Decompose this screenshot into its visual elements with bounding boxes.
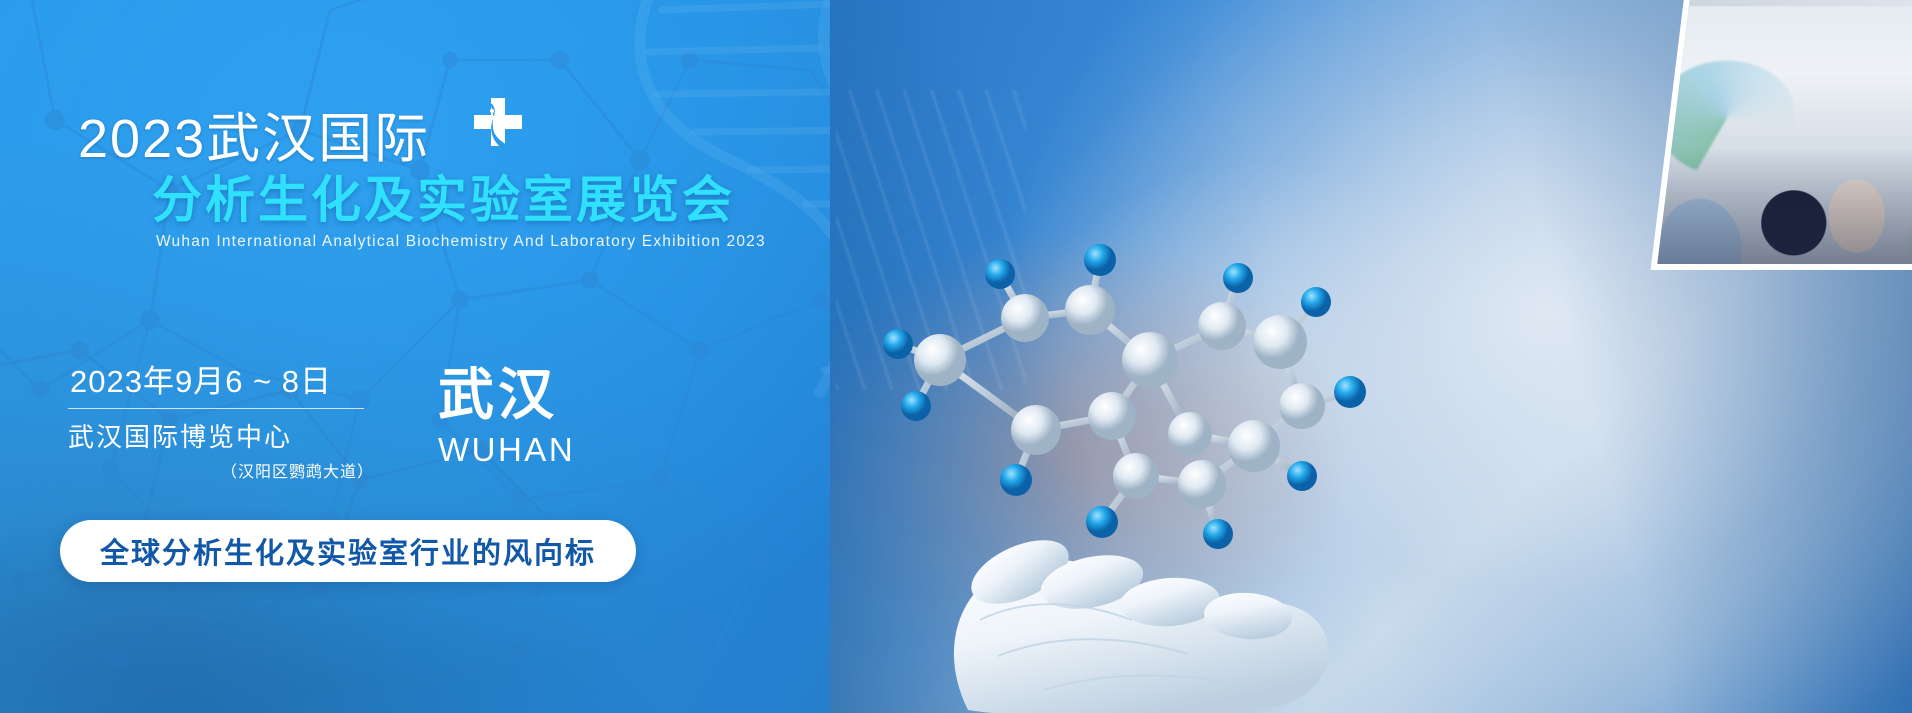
page-title: 2023武汉国际 [78, 112, 838, 166]
event-date: 2023年9月6 ~ 8日 [66, 365, 376, 399]
page-subtitle-cn: 分析生化及实验室展览会 [152, 174, 838, 227]
exhibition-banner: 2023武汉国际 分析生化及实验室展览会 Wuhan International… [0, 0, 1912, 713]
divider-rule [68, 408, 364, 409]
gloved-hand-image [848, 320, 1488, 713]
exhibition-booth-photo-1 [1651, 0, 1912, 270]
dna-cross-icon [470, 96, 526, 152]
city-name-cn: 武汉 [438, 367, 575, 423]
hero-photo-zone [830, 0, 1912, 713]
slogan-pill: 全球分析生化及实验室行业的风向标 [60, 520, 636, 582]
date-venue-column: 2023年9月6 ~ 8日 武汉国际博览中心 （汉阳区鹦鹉大道） [66, 365, 376, 482]
page-subtitle-en: Wuhan International Analytical Biochemis… [156, 233, 838, 251]
event-venue-address: （汉阳区鹦鹉大道） [66, 458, 376, 482]
slogan-text: 全球分析生化及实验室行业的风向标 [100, 530, 596, 572]
city-column: 武汉 WUHAN [438, 365, 575, 466]
event-venue: 武汉国际博览中心 [66, 417, 376, 454]
city-name-en: WUHAN [438, 433, 575, 466]
title-block: 2023武汉国际 分析生化及实验室展览会 Wuhan International… [78, 112, 838, 251]
event-info-block: 2023年9月6 ~ 8日 武汉国际博览中心 （汉阳区鹦鹉大道） 武汉 WUHA… [66, 365, 575, 482]
